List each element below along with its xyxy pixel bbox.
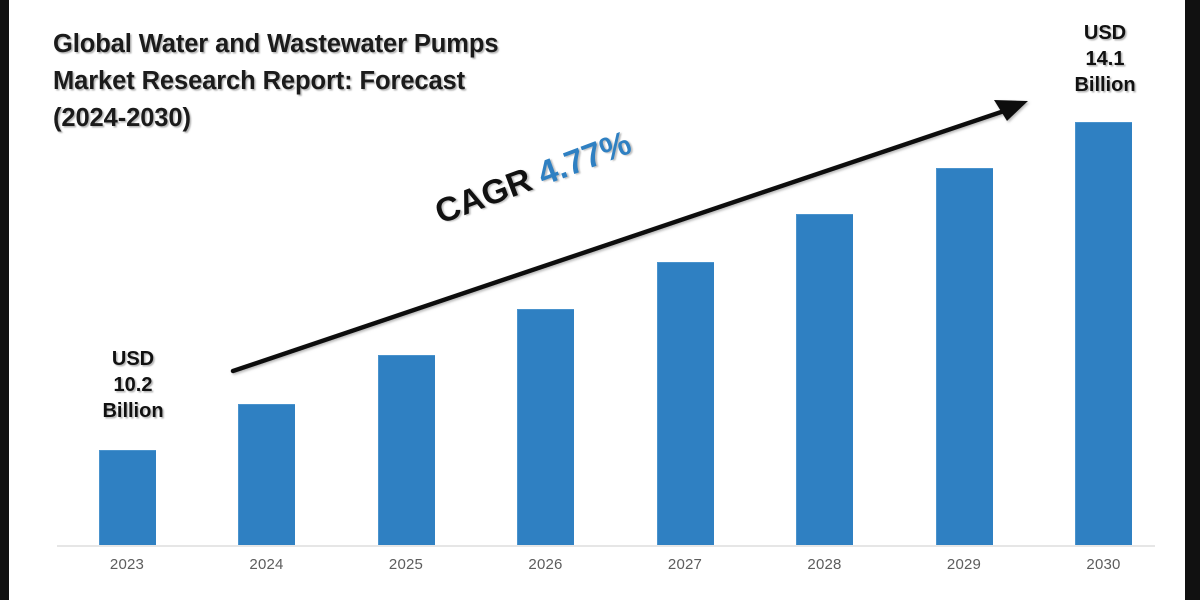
x-tick-label-2029: 2029 bbox=[914, 556, 1014, 573]
x-tick-label-2024: 2024 bbox=[217, 556, 317, 573]
bar-2024 bbox=[238, 404, 295, 546]
x-tick-label-2028: 2028 bbox=[775, 556, 875, 573]
x-tick-label-2030: 2030 bbox=[1054, 556, 1154, 573]
chart-canvas: Global Water and Wastewater Pumps Market… bbox=[0, 0, 1200, 600]
end-value-annotation: USD 14.1 Billion bbox=[1050, 20, 1160, 98]
bar-2027 bbox=[657, 262, 714, 546]
bar-2030 bbox=[1075, 122, 1132, 546]
plot-area: 20232024202520262027202820292030 bbox=[0, 0, 1200, 600]
x-axis-line bbox=[57, 545, 1155, 547]
start-value-annotation: USD 10.2 Billion bbox=[78, 346, 188, 424]
bar-2026 bbox=[517, 309, 574, 546]
x-tick-label-2027: 2027 bbox=[635, 556, 735, 573]
bar-2025 bbox=[378, 355, 435, 546]
x-tick-label-2023: 2023 bbox=[77, 556, 177, 573]
x-tick-label-2025: 2025 bbox=[356, 556, 456, 573]
x-tick-label-2026: 2026 bbox=[496, 556, 596, 573]
bar-2029 bbox=[936, 168, 993, 546]
bar-2028 bbox=[796, 214, 853, 546]
bar-2023 bbox=[99, 450, 156, 546]
